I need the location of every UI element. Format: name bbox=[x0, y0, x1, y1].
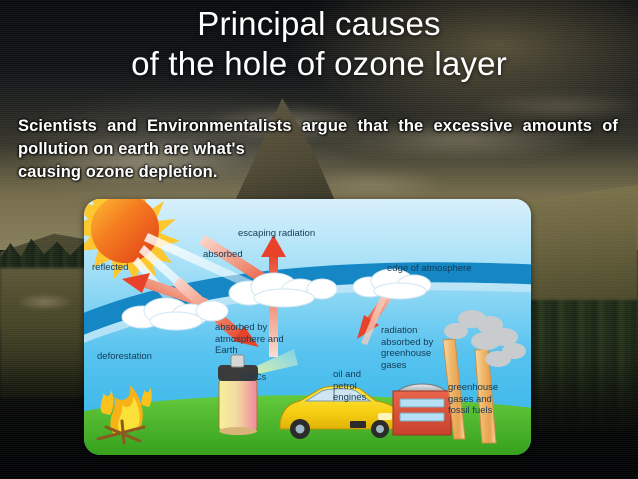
slide: Principal causes of the hole of ozone la… bbox=[0, 0, 638, 479]
factory-building-icon bbox=[393, 384, 451, 435]
greenhouse-effect-diagram: escaping radiation absorbed reflected ed… bbox=[84, 199, 531, 455]
label-oil-and-petrol-engines: oil and petrol engines bbox=[333, 369, 366, 404]
label-radiation-absorbed-by-greenhouse-gases: radiation absorbed by greenhouse gases bbox=[381, 325, 433, 371]
slide-title-line1: Principal causes bbox=[197, 5, 440, 42]
label-absorbed: absorbed bbox=[203, 249, 243, 261]
label-deforestation: deforestation bbox=[97, 351, 152, 363]
slide-title: Principal causes of the hole of ozone la… bbox=[0, 4, 638, 84]
slide-body-text: Scientists and Environmentalists argue t… bbox=[18, 117, 618, 158]
slide-body-text-last: causing ozone depletion. bbox=[18, 161, 618, 184]
label-edge-of-atmosphere: edge of atmosphere bbox=[387, 263, 472, 275]
slide-title-line2: of the hole of ozone layer bbox=[0, 44, 638, 84]
diagram-canvas: escaping radiation absorbed reflected ed… bbox=[84, 199, 531, 455]
slide-body: Scientists and Environmentalists argue t… bbox=[18, 115, 618, 184]
label-reflected: reflected bbox=[92, 262, 128, 274]
label-absorbed-by-atmosphere-and-earth: absorbed by atmosphere and Earth bbox=[215, 322, 284, 357]
label-cfcs: CFCs bbox=[242, 372, 266, 384]
aerosol-can-icon bbox=[218, 355, 258, 435]
label-escaping-radiation: escaping radiation bbox=[238, 228, 315, 240]
label-greenhouse-gases-and-fossil-fuels: greenhouse gases and fossil fuels bbox=[448, 382, 498, 417]
